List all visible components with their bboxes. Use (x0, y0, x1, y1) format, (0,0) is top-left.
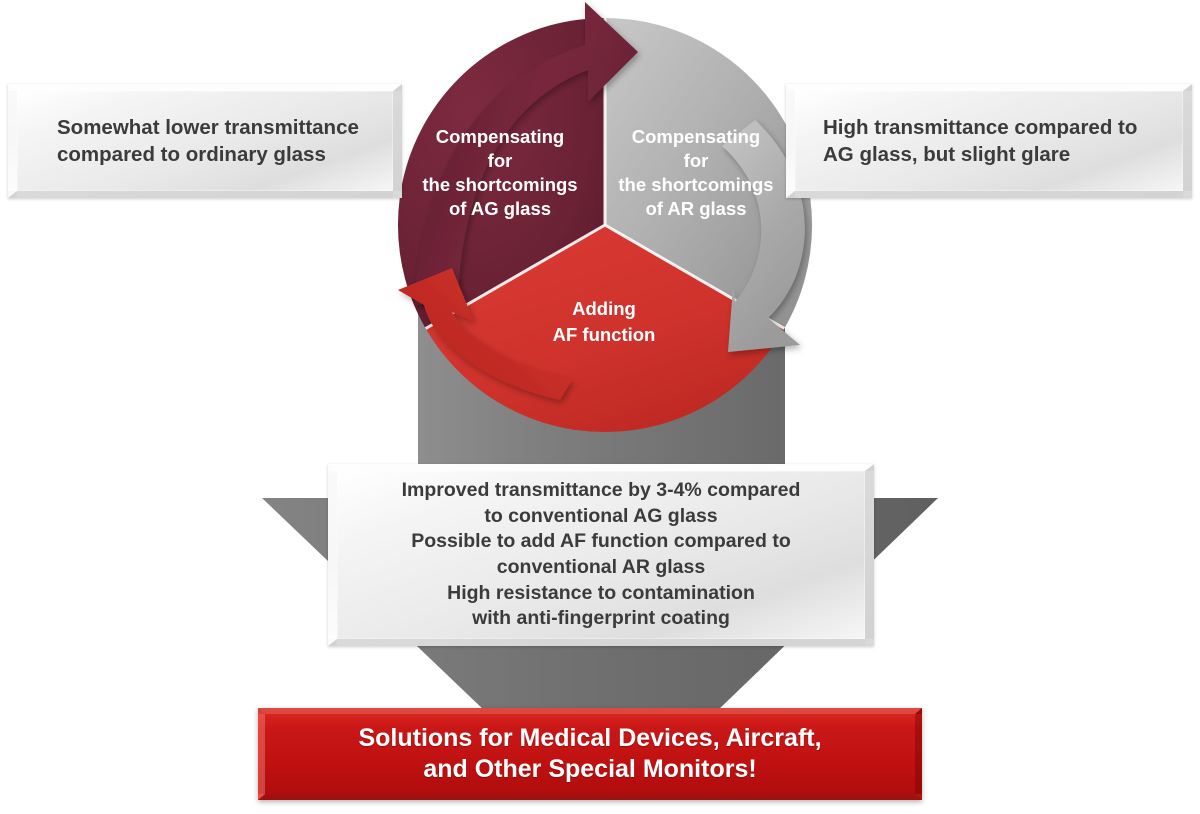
label-line: for (488, 150, 513, 171)
label-line: of AG glass (449, 198, 551, 219)
label-line: Adding (572, 298, 636, 319)
conclusion-banner: Solutions for Medical Devices, Aircraft,… (258, 708, 922, 800)
label-line: Compensating (436, 126, 564, 147)
right-callout-text: High transmittance compared to AG glass,… (823, 114, 1137, 168)
segment-gray (605, 18, 812, 329)
arrow-shaft (418, 200, 785, 500)
label-line: for (684, 150, 709, 171)
center-summary-box: Improved transmittance by 3-4% compared … (328, 464, 874, 646)
label-line: the shortcomings (618, 174, 773, 195)
segment-label-gray: Compensating for the shortcomings of AR … (618, 126, 773, 219)
right-callout-box: High transmittance compared to AG glass,… (786, 84, 1192, 198)
label-line: of AR glass (645, 198, 746, 219)
diagram-canvas: Compensating for the shortcomings of AG … (0, 0, 1200, 814)
curved-arrow-red (398, 268, 572, 400)
center-summary-text: Improved transmittance by 3-4% compared … (337, 478, 865, 632)
left-callout-box: Somewhat lower transmittance compared to… (8, 84, 402, 198)
conclusion-banner-text: Solutions for Medical Devices, Aircraft,… (358, 723, 821, 786)
label-line: Compensating (632, 126, 760, 147)
left-callout-text: Somewhat lower transmittance compared to… (57, 114, 359, 168)
curved-arrow-maroon (415, 2, 638, 305)
segment-label-maroon: Compensating for the shortcomings of AG … (422, 126, 577, 219)
segment-red (426, 225, 785, 432)
segment-label-red: Adding AF function (553, 298, 656, 345)
label-line: the shortcomings (422, 174, 577, 195)
label-line: AF function (553, 324, 656, 345)
segment-maroon (398, 18, 605, 329)
